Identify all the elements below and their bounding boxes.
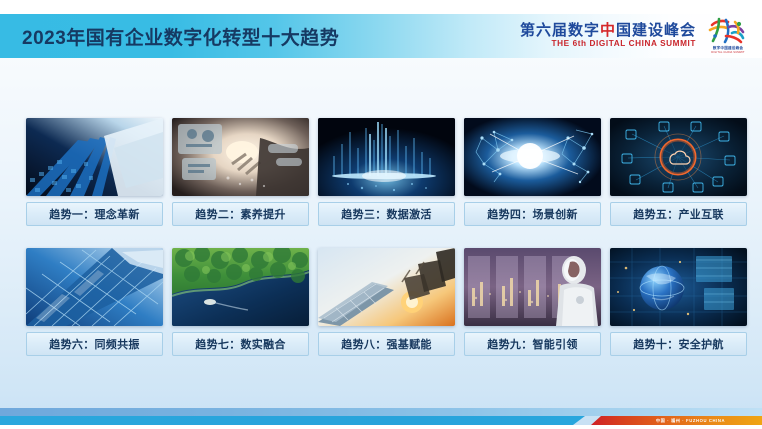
trends-grid: 趋势一：理念革新 xyxy=(26,118,738,356)
trends-row-1: 趋势一：理念革新 xyxy=(26,118,738,226)
robot-hand-touch-interface-photo xyxy=(172,118,309,196)
trend-card-10[interactable]: 趋势十：安全护航 xyxy=(610,248,747,356)
summit-text-block: 第六届数字中国建设峰会 THE 6th DIGITAL CHINA SUMMIT xyxy=(520,23,696,48)
slide-root: 2023年国有企业数字化转型十大趋势 第六届数字中国建设峰会 THE 6th D… xyxy=(0,0,762,429)
footer-bar-blue-segment xyxy=(0,416,585,425)
trend-card-7[interactable]: 趋势七：数实融合 xyxy=(172,248,309,356)
solar-panels-photo xyxy=(26,248,163,326)
trend-card-2-label: 趋势二：素养提升 xyxy=(172,202,309,226)
blue-data-light-streaks-photo xyxy=(318,118,455,196)
summit-title-cn: 第六届数字中国建设峰会 xyxy=(520,23,696,38)
iot-connected-nodes-photo xyxy=(610,118,747,196)
summit-title-en: THE 6th DIGITAL CHINA SUMMIT xyxy=(520,40,696,48)
green-forest-river-aerial-photo xyxy=(172,248,309,326)
humanoid-robot-city-window-photo xyxy=(464,248,601,326)
blue-globe-circuit-shield-photo xyxy=(610,248,747,326)
slide-top-margin xyxy=(0,0,762,14)
summit-title-cn-part2: 数字 xyxy=(568,22,600,39)
trend-card-4[interactable]: 趋势四：场景创新 xyxy=(464,118,601,226)
summit-title-cn-red-char: 中 xyxy=(600,22,616,39)
header-banner: 2023年国有企业数字化转型十大趋势 第六届数字中国建设峰会 THE 6th D… xyxy=(0,14,762,58)
trend-card-5-label: 趋势五：产业互联 xyxy=(610,202,747,226)
footer-bar-red-orange-segment: 中国 · 福州 · FUZHOU CHINA xyxy=(591,416,762,425)
footer-bar-divider xyxy=(585,416,591,425)
trend-card-7-label: 趋势七：数实融合 xyxy=(172,332,309,356)
footer-bar: 中国 · 福州 · FUZHOU CHINA xyxy=(0,416,762,425)
trend-card-8[interactable]: 趋势八：强基赋能 xyxy=(318,248,455,356)
trend-card-3-label: 趋势三：数据激活 xyxy=(318,202,455,226)
trend-card-5[interactable]: 趋势五：产业互联 xyxy=(610,118,747,226)
trend-card-3[interactable]: 趋势三：数据激活 xyxy=(318,118,455,226)
summit-branding: 第六届数字中国建设峰会 THE 6th DIGITAL CHINA SUMMIT xyxy=(520,15,754,57)
solar-panel-sunset-photo xyxy=(318,248,455,326)
summit-title-cn-part1: 第六届 xyxy=(520,22,568,39)
footer-blue-band xyxy=(0,408,762,416)
trend-card-8-label: 趋势八：强基赋能 xyxy=(318,332,455,356)
logo-caption-en: DIGITAL CHINA SUMMIT xyxy=(711,51,744,54)
blue-keyboard-skyscraper-photo xyxy=(26,118,163,196)
trend-card-6-label: 趋势六：同频共振 xyxy=(26,332,163,356)
trend-card-9-label: 趋势九：智能引领 xyxy=(464,332,601,356)
slide-bottom-margin xyxy=(0,425,762,429)
trend-card-1[interactable]: 趋势一：理念革新 xyxy=(26,118,163,226)
trend-card-9[interactable]: 趋势九：智能引领 xyxy=(464,248,601,356)
trend-card-10-label: 趋势十：安全护航 xyxy=(610,332,747,356)
trend-card-1-label: 趋势一：理念革新 xyxy=(26,202,163,226)
trend-card-2[interactable]: 趋势二：素养提升 xyxy=(172,118,309,226)
footer-location-text: 中国 · 福州 · FUZHOU CHINA xyxy=(656,418,725,424)
digital-china-summit-logo-icon: 数字中国建设峰会 DIGITAL CHINA SUMMIT xyxy=(702,16,754,56)
trends-row-2: 趋势六：同频共振 xyxy=(26,248,738,356)
summit-title-cn-part3: 国建设峰会 xyxy=(616,22,696,39)
page-title: 2023年国有企业数字化转型十大趋势 xyxy=(22,23,339,50)
glowing-network-burst-photo xyxy=(464,118,601,196)
trend-card-6[interactable]: 趋势六：同频共振 xyxy=(26,248,163,356)
trend-card-4-label: 趋势四：场景创新 xyxy=(464,202,601,226)
